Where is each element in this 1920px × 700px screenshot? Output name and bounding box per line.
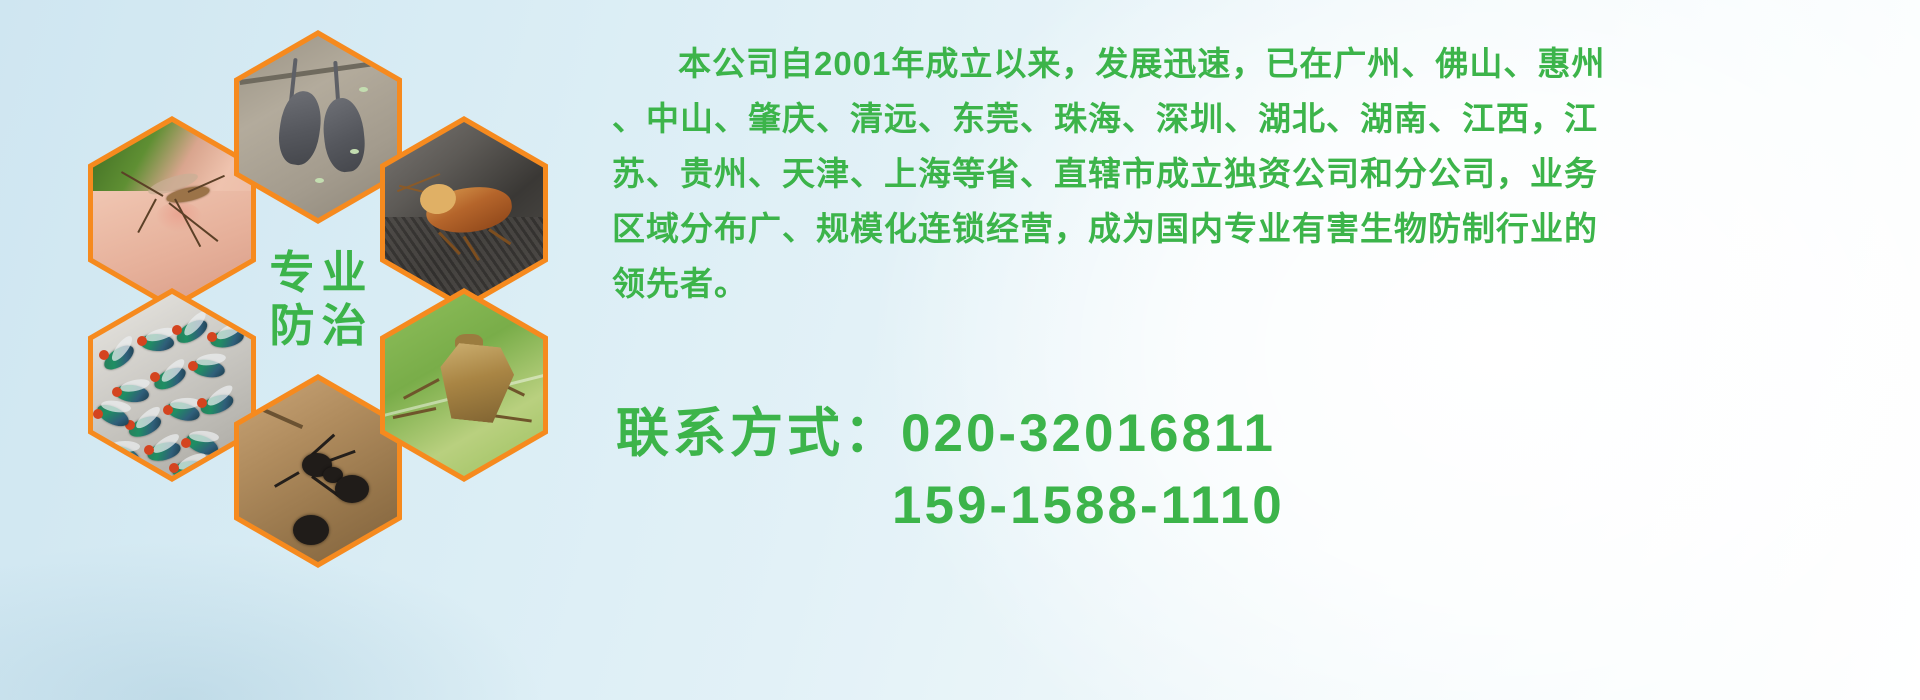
- description-line-5: 领先者。: [612, 256, 1902, 311]
- hex-photo-inner: [239, 380, 397, 562]
- ant-illustration: [239, 380, 397, 562]
- contact-phone-secondary[interactable]: 159-1588-1110: [892, 476, 1285, 535]
- hex-photo-inner: [385, 122, 543, 304]
- hex-photo-stink-bug-on-leaf: [380, 288, 548, 482]
- hex-photo-cluster-of-green-flies: [88, 288, 256, 482]
- fly-head: [172, 325, 182, 335]
- fly-head: [163, 405, 173, 415]
- company-description: 本公司自2001年成立以来，发展迅速，已在广州、佛山、惠州 、中山、肇庆、清远、…: [612, 36, 1902, 311]
- fly-wing: [176, 450, 208, 473]
- description-line-4: 区域分布广、规模化连锁经营，成为国内专业有害生物防制行业的: [612, 201, 1902, 256]
- hex-photo-cockroach-on-concrete: [380, 116, 548, 310]
- cockroach-illustration: [385, 122, 543, 304]
- hex-photo-inner: [93, 294, 251, 476]
- contact-primary-row: 联系方式：020-32016811: [616, 398, 1906, 470]
- description-line-1: 本公司自2001年成立以来，发展迅速，已在广州、佛山、惠州: [612, 36, 1902, 91]
- contact-label: 联系方式：: [616, 404, 901, 463]
- fly-wing: [110, 441, 140, 452]
- rats-illustration: [239, 36, 397, 218]
- banner-canvas: 专业 防治 本公司自2001年成立以来，发展迅速，已在广州、佛山、惠州 、中山、…: [0, 0, 1920, 700]
- fly-head: [144, 445, 154, 455]
- contact-block: 联系方式：020-32016811 159-1588-1110: [616, 398, 1906, 542]
- contact-phone-primary[interactable]: 020-32016811: [901, 404, 1276, 463]
- hex-photo-inner: [93, 122, 251, 304]
- hex-photo-inner: [239, 36, 397, 218]
- hex-slogan-inner: 专业 防治: [234, 202, 402, 396]
- fly-head: [93, 409, 103, 419]
- hex-photo-inner: [385, 294, 543, 476]
- fly-head: [207, 332, 217, 342]
- fly-head: [102, 449, 112, 459]
- flies-illustration: [93, 294, 251, 476]
- slogan-line-1: 专业: [262, 246, 373, 299]
- hex-photo-mosquito-biting-skin: [88, 116, 256, 310]
- stink-bug-illustration: [385, 294, 543, 476]
- contact-secondary-row: 159-1588-1110: [616, 470, 1906, 542]
- fly-head: [197, 398, 207, 408]
- description-line-3: 苏、贵州、天津、上海等省、直辖市成立独资公司和分公司，业务: [612, 146, 1902, 201]
- hex-photo-black-ant-on-soil: [234, 374, 402, 568]
- hex-slogan-cell: 专业 防治: [234, 202, 402, 396]
- slogan-line-2: 防治: [262, 299, 373, 352]
- mosquito-illustration: [93, 122, 251, 304]
- fly-head: [112, 387, 122, 397]
- honeycomb-collage: 专业 防治: [88, 8, 588, 568]
- description-line-2: 、中山、肇庆、清远、东莞、珠海、深圳、湖北、湖南、江西，江: [612, 91, 1902, 146]
- hex-photo-dead-rats-on-ground: [234, 30, 402, 224]
